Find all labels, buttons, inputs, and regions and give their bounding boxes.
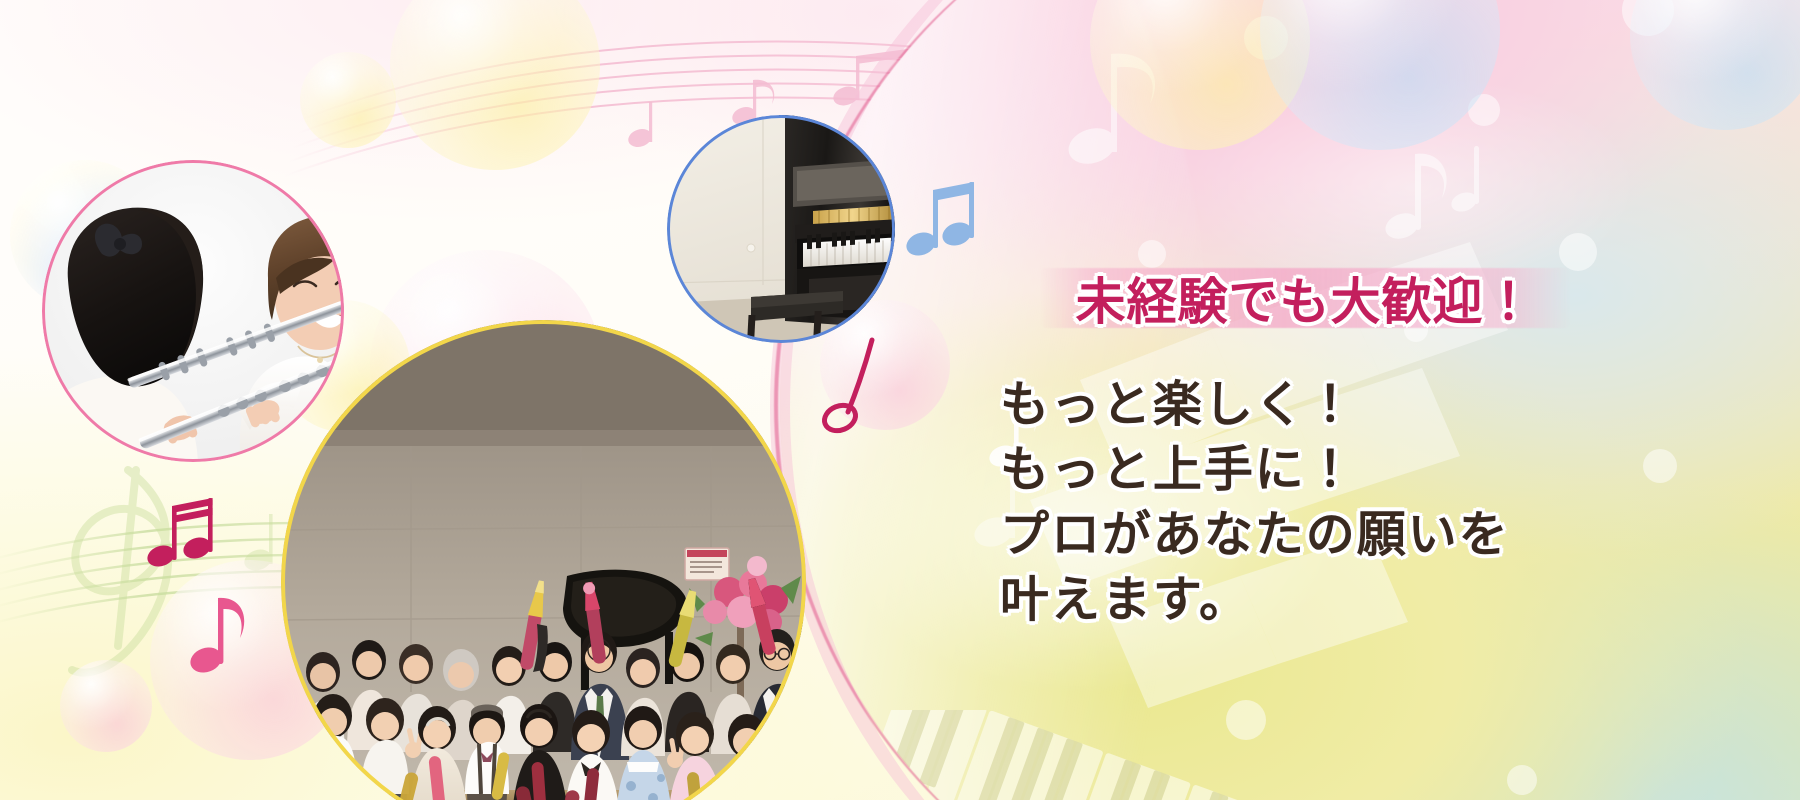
photo-piano-room[interactable] [667,115,895,343]
photo-piano-room-image [667,115,895,343]
body-copy-line-2: もっと上手に！ [1000,437,1620,502]
headline-banner: 未経験でも大歓迎！ [1040,262,1570,334]
hero-banner: 未経験でも大歓迎！ もっと楽しく！ もっと上手に！ プロがあなたの願いを 叶えま… [0,0,1800,800]
body-copy-line-1: もっと楽しく！ [1000,372,1620,437]
headline-text: 未経験でも大歓迎！ [1040,262,1570,334]
photo-recital-group-image [281,320,806,800]
body-copy-line-3: プロがあなたの願いを [1000,502,1620,567]
photo-recital-group[interactable] [281,320,806,800]
body-copy-line-4: 叶えます。 [1000,567,1620,632]
piano-keys-decoration [850,710,1320,800]
body-copy: もっと楽しく！ もっと上手に！ プロがあなたの願いを 叶えます。 [1000,372,1620,633]
